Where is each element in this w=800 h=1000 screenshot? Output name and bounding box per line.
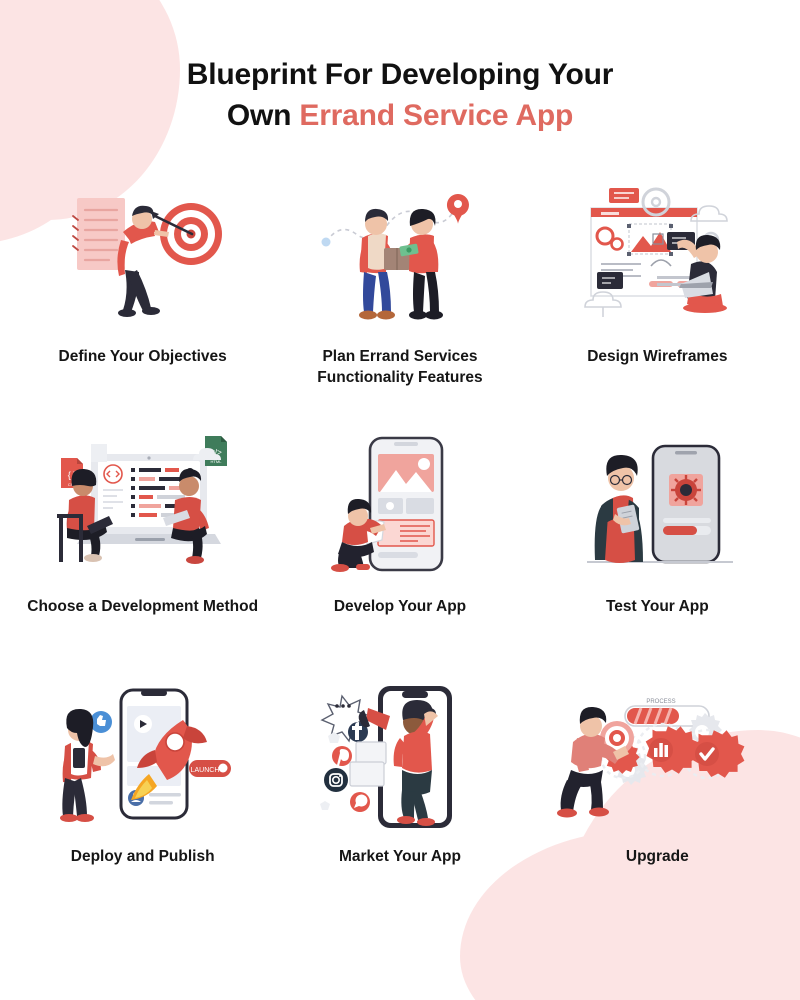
svg-text:LAUNCH: LAUNCH: [190, 767, 219, 774]
step-label: Design Wireframes: [587, 346, 727, 367]
step-label: Test Your App: [606, 596, 709, 617]
step-label: Upgrade: [626, 846, 689, 867]
rocket-launch-icon: LAUNCH: [43, 680, 243, 840]
step-card-plan-errand-services: Plan Errand Services Functionality Featu…: [271, 176, 528, 426]
page-header: Blueprint For Developing Your Own Errand…: [0, 0, 800, 136]
step-label: Choose a Development Method: [27, 596, 258, 617]
step-label: Market Your App: [339, 846, 461, 867]
step-card-test-your-app: Test Your App: [529, 426, 786, 676]
mobile-build-icon: [300, 430, 500, 590]
infographic-page: Blueprint For Developing Your Own Errand…: [0, 0, 800, 1000]
step-card-design-wireframes: Design Wireframes: [529, 176, 786, 426]
step-label: Deploy and Publish: [71, 846, 215, 867]
step-card-develop-your-app: Develop Your App: [271, 426, 528, 676]
delivery-handoff-icon: [300, 180, 500, 340]
step-label: Plan Errand Services Functionality Featu…: [275, 346, 525, 389]
target-dart-icon: [43, 180, 243, 340]
developers-laptop-icon: { } CSS </> HTML: [43, 430, 243, 590]
megaphone-social-icon: [300, 680, 500, 840]
svg-text:PROCESS: PROCESS: [647, 699, 676, 705]
step-card-define-objectives: Define Your Objectives: [14, 176, 271, 426]
page-title: Blueprint For Developing Your Own Errand…: [60, 55, 740, 136]
step-label: Define Your Objectives: [59, 346, 227, 367]
step-card-upgrade: PROCESS: [529, 676, 786, 926]
step-card-deploy-and-publish: LAUNCH Deploy: [14, 676, 271, 926]
wireframe-board-icon: [557, 180, 757, 340]
page-title-line-1: Blueprint For Developing Your: [187, 58, 613, 91]
page-title-line-2-plain: Own: [227, 99, 300, 132]
step-label: Develop Your App: [334, 596, 466, 617]
steps-grid: Define Your Objectives: [0, 176, 800, 926]
page-title-line-2-accent: Errand Service App: [299, 99, 573, 132]
gears-progress-icon: PROCESS: [557, 680, 757, 840]
step-card-market-your-app: Market Your App: [271, 676, 528, 926]
testing-phone-icon: [557, 430, 757, 590]
step-card-choose-development-method: { } CSS </> HTML: [14, 426, 271, 676]
